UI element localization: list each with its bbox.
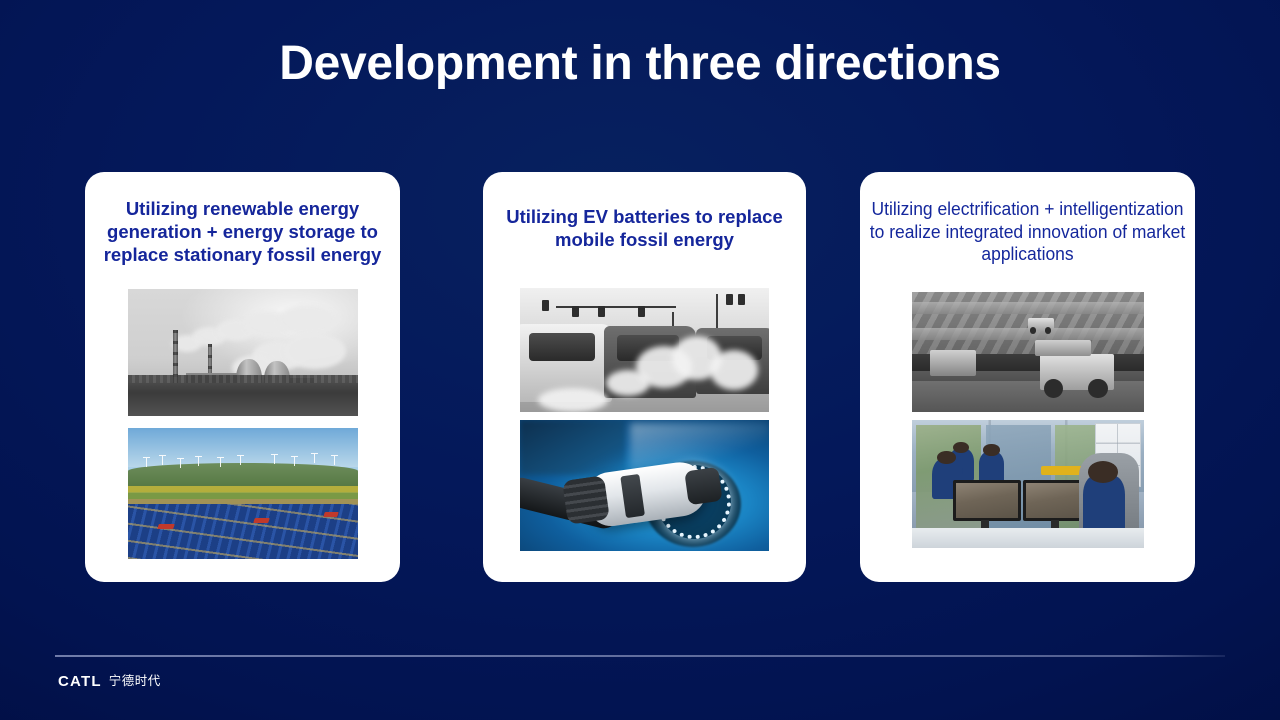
card-electrification-intelligentization[interactable]: Utilizing electrification + intelligenti… (860, 172, 1195, 582)
card-ev-batteries[interactable]: Utilizing EV batteries to replace mobile… (483, 172, 806, 582)
card-photo-stack (483, 288, 806, 551)
card-photo-stack (85, 289, 400, 559)
footer-divider (55, 655, 1225, 657)
card-photo-stack (860, 292, 1195, 548)
ev-charging-connector-photo (520, 420, 769, 551)
catl-logo: CATL 宁德时代 (58, 674, 161, 689)
solar-wind-farm-photo (128, 428, 358, 559)
card-heading: Utilizing renewable energy generation + … (85, 198, 400, 266)
card-renewable-energy[interactable]: Utilizing renewable energy generation + … (85, 172, 400, 582)
mining-haul-trucks-photo (912, 292, 1144, 412)
card-heading: Utilizing EV batteries to replace mobile… (483, 206, 806, 252)
traffic-exhaust-photo (520, 288, 769, 412)
brand-latin-text: CATL (58, 674, 102, 689)
card-heading: Utilizing electrification + intelligenti… (865, 198, 1190, 266)
coal-power-plant-photo (128, 289, 358, 416)
brand-chinese-text: 宁德时代 (109, 675, 161, 688)
cards-container: Utilizing renewable energy generation + … (0, 0, 1280, 720)
control-room-photo (912, 420, 1144, 548)
